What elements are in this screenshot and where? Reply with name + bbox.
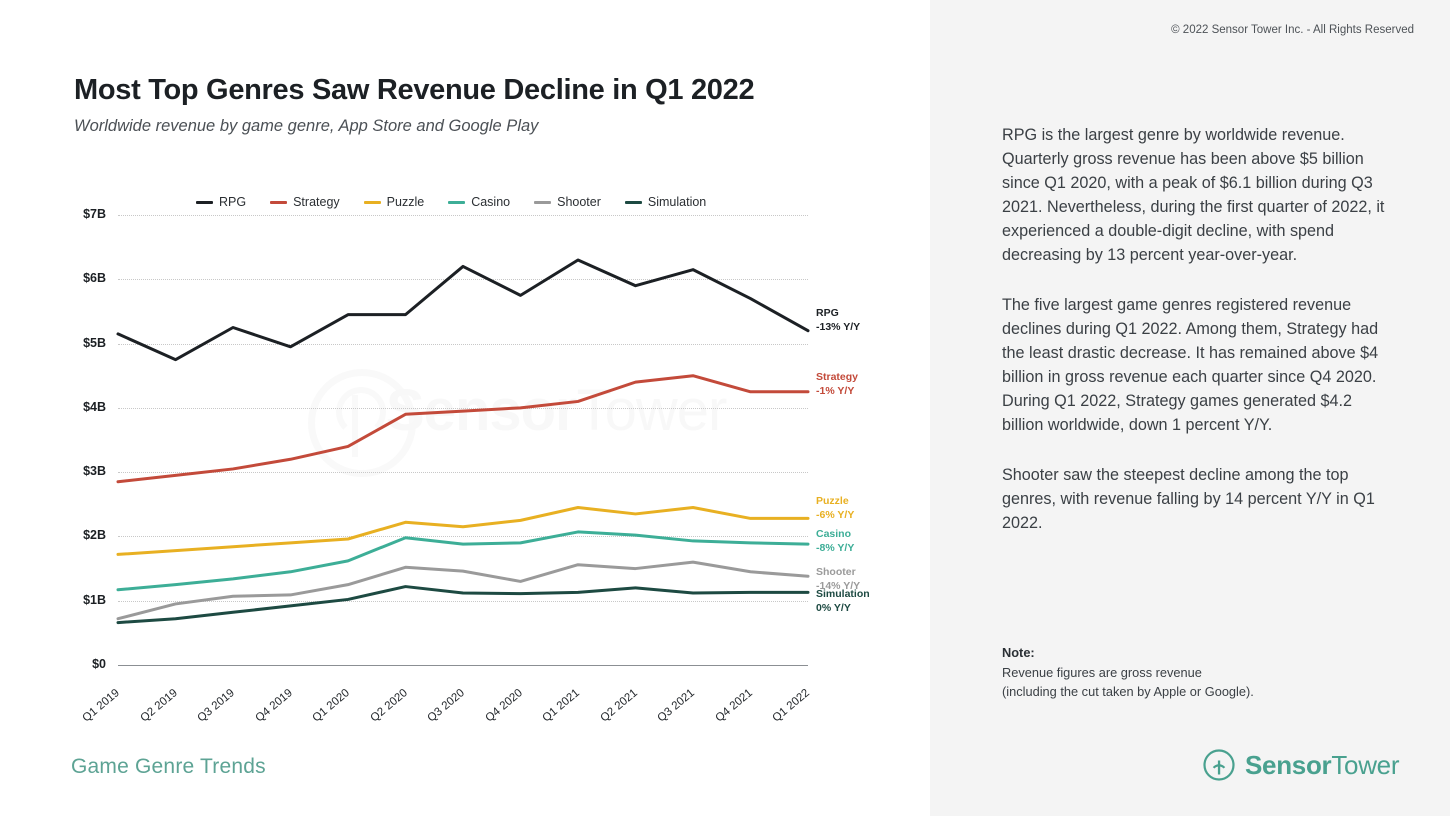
commentary-panel: © 2022 Sensor Tower Inc. - All Rights Re… (930, 0, 1450, 816)
end-label-simulation: Simulation0% Y/Y (816, 588, 870, 616)
end-label-name: Simulation (816, 588, 870, 602)
x-axis-tick-label: Q1 2019 (80, 687, 122, 725)
x-axis-tick-label: Q1 2020 (310, 687, 352, 725)
legend-swatch-icon (364, 201, 381, 204)
commentary-paragraph: The five largest game genres registered … (1002, 294, 1387, 438)
end-label-delta: -8% Y/Y (816, 542, 854, 556)
series-lines (118, 215, 808, 665)
y-axis-tick-label: $0 (36, 657, 106, 671)
series-line-shooter (118, 562, 808, 619)
commentary-text: RPG is the largest genre by worldwide re… (1002, 124, 1387, 562)
note-line-2: (including the cut taken by Apple or Goo… (1002, 682, 1402, 701)
x-axis-tick-label: Q3 2021 (655, 687, 697, 725)
chart-legend: RPGStrategyPuzzleCasinoShooterSimulation (196, 195, 706, 209)
sensor-tower-brand: SensorTower (1202, 748, 1399, 782)
brand-text-light: Tower (1331, 750, 1399, 780)
y-axis-tick-label: $3B (36, 464, 106, 478)
end-label-name: Puzzle (816, 495, 854, 509)
end-label-casino: Casino-8% Y/Y (816, 528, 854, 556)
x-axis-labels: Q1 2019Q2 2019Q3 2019Q4 2019Q1 2020Q2 20… (118, 666, 808, 726)
series-line-simulation (118, 587, 808, 623)
x-axis-tick-label: Q2 2020 (368, 687, 410, 725)
y-axis-tick-label: $1B (36, 593, 106, 607)
end-label-delta: -6% Y/Y (816, 509, 854, 523)
legend-item-casino[interactable]: Casino (448, 195, 510, 209)
legend-label: Simulation (648, 195, 706, 209)
series-line-puzzle (118, 508, 808, 555)
x-axis-tick-label: Q3 2020 (425, 687, 467, 725)
x-axis-tick-label: Q1 2021 (540, 687, 582, 725)
legend-swatch-icon (448, 201, 465, 204)
y-axis-tick-label: $2B (36, 528, 106, 542)
x-axis-tick-label: Q4 2020 (483, 687, 525, 725)
series-line-rpg (118, 260, 808, 360)
legend-item-strategy[interactable]: Strategy (270, 195, 340, 209)
sensor-tower-logo-icon (1202, 748, 1236, 782)
end-label-delta: -1% Y/Y (816, 385, 858, 399)
legend-swatch-icon (196, 201, 213, 204)
commentary-paragraph: RPG is the largest genre by worldwide re… (1002, 124, 1387, 268)
series-line-strategy (118, 376, 808, 482)
end-label-name: Strategy (816, 371, 858, 385)
x-axis-tick-label: Q2 2021 (598, 687, 640, 725)
end-label-name: Shooter (816, 566, 860, 580)
legend-swatch-icon (270, 201, 287, 204)
commentary-paragraph: Shooter saw the steepest decline among t… (1002, 464, 1387, 536)
revenue-line-chart: SensorTower RPGStrategyPuzzleCasinoShoot… (0, 0, 930, 816)
series-line-casino (118, 532, 808, 590)
y-axis-tick-label: $7B (36, 207, 106, 221)
note-line-1: Revenue figures are gross revenue (1002, 663, 1402, 682)
end-label-strategy: Strategy-1% Y/Y (816, 371, 858, 399)
y-axis-tick-label: $5B (36, 336, 106, 350)
legend-item-shooter[interactable]: Shooter (534, 195, 601, 209)
x-axis-tick-label: Q4 2019 (253, 687, 295, 725)
brand-text-bold: Sensor (1245, 750, 1331, 780)
note-title: Note: (1002, 645, 1402, 660)
legend-label: Casino (471, 195, 510, 209)
legend-label: Strategy (293, 195, 340, 209)
x-axis-tick-label: Q3 2019 (195, 687, 237, 725)
legend-label: Puzzle (387, 195, 425, 209)
legend-item-puzzle[interactable]: Puzzle (364, 195, 425, 209)
end-label-rpg: RPG-13% Y/Y (816, 307, 860, 335)
legend-item-rpg[interactable]: RPG (196, 195, 246, 209)
x-axis-tick-label: Q1 2022 (770, 687, 812, 725)
end-label-delta: 0% Y/Y (816, 602, 870, 616)
legend-item-simulation[interactable]: Simulation (625, 195, 706, 209)
copyright-text: © 2022 Sensor Tower Inc. - All Rights Re… (1171, 24, 1414, 36)
end-label-delta: -13% Y/Y (816, 321, 860, 335)
end-label-name: Casino (816, 528, 854, 542)
legend-swatch-icon (625, 201, 642, 204)
chart-panel: Most Top Genres Saw Revenue Decline in Q… (0, 0, 930, 816)
end-label-name: RPG (816, 307, 860, 321)
legend-swatch-icon (534, 201, 551, 204)
legend-label: Shooter (557, 195, 601, 209)
note-block: Note: Revenue figures are gross revenue … (1002, 645, 1402, 701)
footer-tag: Game Genre Trends (71, 755, 266, 779)
legend-label: RPG (219, 195, 246, 209)
end-label-puzzle: Puzzle-6% Y/Y (816, 495, 854, 523)
y-axis-tick-label: $6B (36, 271, 106, 285)
x-axis-tick-label: Q4 2021 (713, 687, 755, 725)
x-axis-tick-label: Q2 2019 (138, 687, 180, 725)
y-axis-tick-label: $4B (36, 400, 106, 414)
brand-text: SensorTower (1245, 750, 1399, 781)
